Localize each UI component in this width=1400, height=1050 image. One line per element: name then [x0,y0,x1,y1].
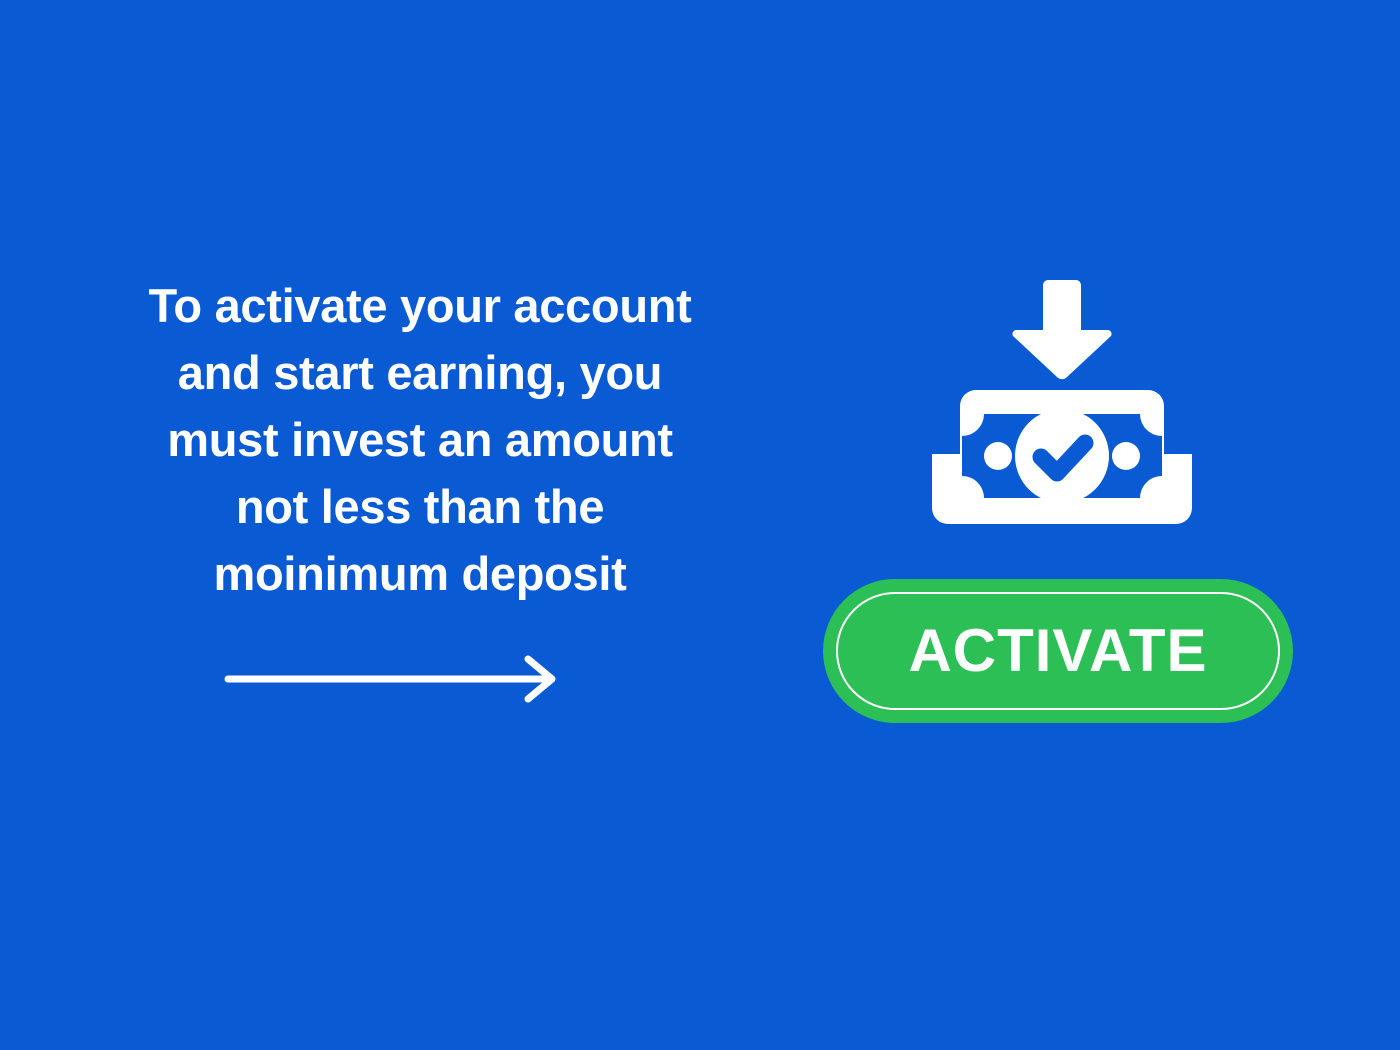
message-block: To activate your account and start earni… [70,272,770,607]
banknote-dot-left [984,442,1012,470]
check-circle-icon [1015,409,1109,503]
banknote-dot-right [1112,442,1140,470]
page-title: To activate your account and start earni… [70,272,770,607]
deposit-money-icon [912,272,1212,540]
arrow-down-icon [1012,280,1111,379]
activate-button-label: ACTIVATE [908,621,1207,681]
promo-banner: To activate your account and start earni… [0,0,1400,1050]
activate-button[interactable]: ACTIVATE [823,579,1293,723]
arrow-right-icon [220,650,570,710]
